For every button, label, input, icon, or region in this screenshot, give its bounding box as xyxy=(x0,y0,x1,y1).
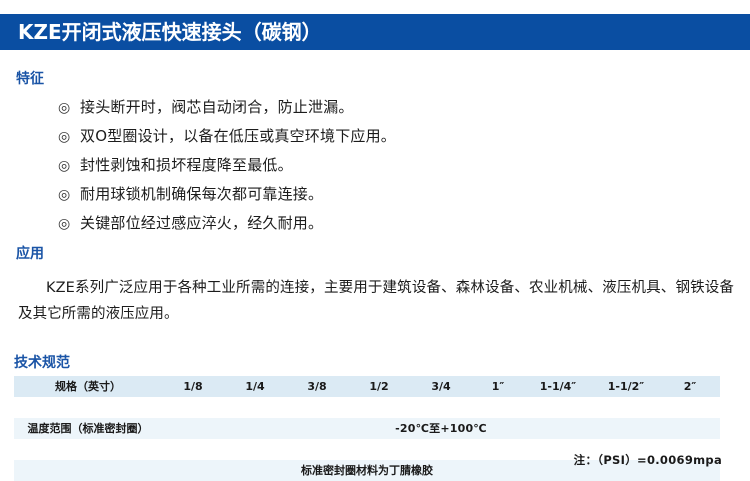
product-spec-page: KZE开闭式液压快速接头（碳钢） 特征 ◎ 接头断开时，阀芯自动闭合，防止泄漏。… xyxy=(0,0,750,475)
list-item-label: 双O型圈设计，以备在低压或真空环境下应用。 xyxy=(80,125,396,146)
table-row-separator xyxy=(14,397,720,418)
page-title: KZE开闭式液压快速接头（碳钢） xyxy=(18,22,322,42)
table-cell-size: 3/4 xyxy=(410,376,472,397)
features-list: ◎ 接头断开时，阀芯自动闭合，防止泄漏。 ◎ 双O型圈设计，以备在低压或真空环境… xyxy=(58,96,658,241)
double-circle-bullet-icon: ◎ xyxy=(58,130,80,144)
table-row: 温度范围（标准密封圈） -20℃至+100℃ xyxy=(14,418,720,439)
double-circle-bullet-icon: ◎ xyxy=(58,159,80,173)
list-item-label: 接头断开时，阀芯自动闭合，防止泄漏。 xyxy=(80,96,354,117)
table-cell-size: 1/2 xyxy=(348,376,410,397)
table-cell-size-label: 规格（英寸） xyxy=(14,376,162,397)
page-title-bar: KZE开闭式液压快速接头（碳钢） xyxy=(0,14,750,50)
list-item: ◎ 耐用球锁机制确保每次都可靠连接。 xyxy=(58,183,658,212)
table-row: 规格（英寸） 1/8 1/4 3/8 1/2 3/4 1″ 1-1/4″ 1-1… xyxy=(14,376,720,397)
list-item-label: 关键部位经过感应淬火，经久耐用。 xyxy=(80,212,323,233)
double-circle-bullet-icon: ◎ xyxy=(58,101,80,115)
application-heading: 应用 xyxy=(16,247,44,261)
list-item: ◎ 双O型圈设计，以备在低压或真空环境下应用。 xyxy=(58,125,658,154)
table-cell-size: 3/8 xyxy=(286,376,348,397)
double-circle-bullet-icon: ◎ xyxy=(58,188,80,202)
table-cell-temperature-label: 温度范围（标准密封圈） xyxy=(14,418,162,439)
list-item-label: 封性剥蚀和损坏程度降至最低。 xyxy=(80,154,293,175)
features-heading: 特征 xyxy=(16,72,44,86)
table-cell-size: 1″ xyxy=(472,376,524,397)
table-cell-temperature-value: -20℃至+100℃ xyxy=(162,418,720,439)
application-paragraph: KZE系列广泛应用于各种工业所需的连接，主要用于建筑设备、森林设备、农业机械、液… xyxy=(18,275,734,327)
table-cell-size: 1-1/4″ xyxy=(524,376,592,397)
separator-cell xyxy=(14,397,720,418)
specification-heading: 技术规范 xyxy=(14,356,70,370)
table-cell-size: 1-1/2″ xyxy=(592,376,660,397)
table-cell-size: 2″ xyxy=(660,376,720,397)
double-circle-bullet-icon: ◎ xyxy=(58,217,80,231)
list-item: ◎ 关键部位经过感应淬火，经久耐用。 xyxy=(58,212,658,241)
list-item: ◎ 接头断开时，阀芯自动闭合，防止泄漏。 xyxy=(58,96,658,125)
list-item: ◎ 封性剥蚀和损坏程度降至最低。 xyxy=(58,154,658,183)
list-item-label: 耐用球锁机制确保每次都可靠连接。 xyxy=(80,183,323,204)
specification-footnote: 注：（PSI）=0.0069mpa xyxy=(574,452,722,468)
table-cell-size: 1/4 xyxy=(224,376,286,397)
table-cell-size: 1/8 xyxy=(162,376,224,397)
